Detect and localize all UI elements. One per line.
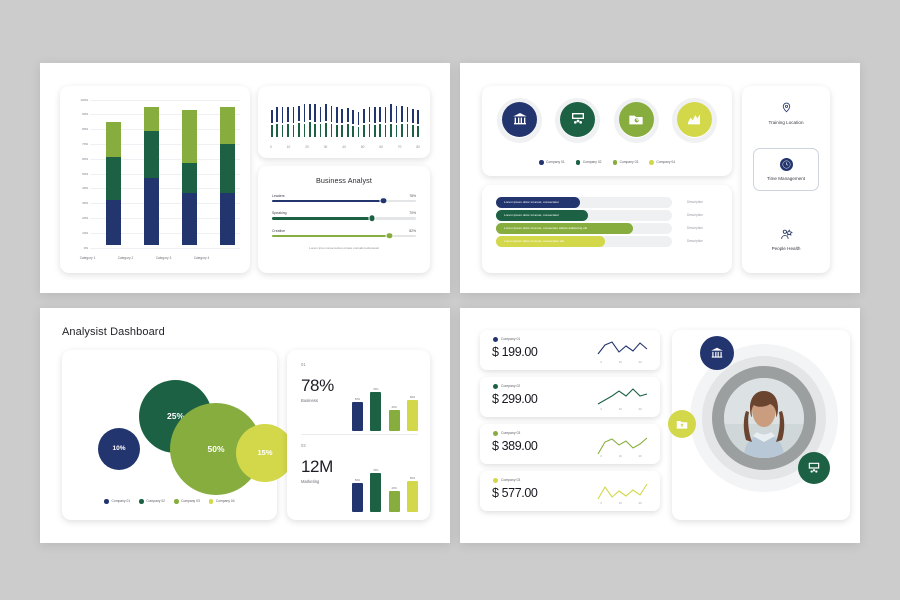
strip-bar-bottom	[357, 126, 361, 138]
bar-segment	[144, 131, 159, 178]
price-card[interactable]: Company 02$ 299.0001020	[480, 377, 660, 417]
bank-icon	[710, 346, 724, 360]
pin-presentation-icon[interactable]	[554, 100, 601, 150]
x-axis-tick: 10	[287, 145, 291, 149]
badge-bank[interactable]	[700, 336, 734, 370]
business-analyst-footer: Lorem ipsu conse lectus ornare consals l…	[258, 246, 430, 250]
legend-label: Company 01	[546, 160, 565, 164]
slide-3: Analysist Dashboard 25%10%50%15% Company…	[40, 308, 450, 543]
progress-description: Description	[672, 213, 718, 217]
pin-user-check-icon[interactable]	[613, 100, 660, 150]
progress-text: Lorem ipsum dolor sit amet, consectetur …	[504, 239, 564, 243]
skill-slider[interactable]: Leaders78%	[272, 194, 416, 203]
company-name: Company 01	[501, 337, 520, 341]
bubble: 10%	[98, 428, 140, 470]
legend-dot	[539, 160, 544, 165]
services-sidebar-card: Training Location Time Management People…	[742, 86, 830, 273]
strip-bar-top	[406, 106, 410, 123]
legend-item: Company 02	[576, 160, 602, 165]
progress-fill: Lorem ipsum dolor sit amet, consectetur	[496, 210, 588, 221]
slider-knob[interactable]	[368, 215, 376, 223]
chart-growth-icon	[677, 102, 712, 137]
progress-row: Lorem ipsum dolor sit amet, consectetur …	[496, 235, 718, 248]
sidebar-label: Time Management	[754, 176, 818, 181]
price-card-header: Company 01	[493, 337, 520, 342]
strip-bar-bottom	[389, 123, 393, 137]
slider-fill	[272, 200, 384, 203]
strip-bar	[319, 106, 323, 138]
mini-bar-label: 70%	[373, 469, 378, 472]
y-axis-tick: 60%	[66, 157, 88, 161]
strip-bar	[384, 106, 388, 138]
sidebar-label: Training Location	[742, 120, 830, 125]
strip-bar	[313, 103, 317, 138]
mini-bar-fill	[352, 402, 363, 431]
company-name: Company 02	[501, 384, 520, 388]
x-axis-tick: 0	[270, 145, 272, 149]
slider-fill	[272, 235, 390, 238]
legend-item: Company 01	[104, 499, 130, 504]
price-card-header: Company 03	[493, 431, 520, 436]
y-axis-tick: 40%	[66, 186, 88, 190]
bar-segment	[220, 107, 235, 144]
strip-bar-top	[362, 108, 366, 124]
strip-bar	[362, 108, 366, 137]
strip-bar-top	[384, 106, 388, 125]
progress-track: Lorem ipsum dolor sit amet, consectetu a…	[496, 223, 672, 234]
mini-bar-label: 50%	[355, 479, 360, 482]
bar-segment	[144, 107, 159, 131]
stat-number: 01	[301, 362, 418, 367]
price-amount: $ 299.00	[492, 392, 537, 406]
strip-bar	[292, 106, 296, 138]
business-analyst-card: Business Analyst Leaders78%Speaking70%Cr…	[258, 166, 430, 273]
strip-bar-top	[368, 106, 372, 123]
x-axis-tick: 30	[324, 145, 328, 149]
mini-bar: 40%	[389, 491, 400, 512]
strip-bar-bottom	[324, 122, 328, 138]
legend-label: Company 03	[181, 499, 200, 503]
slide-1: 100%90%80%70%60%50%40%30%20%10%0% Catego…	[40, 63, 450, 293]
strip-bar	[286, 106, 290, 137]
axis-tick: 0	[600, 361, 601, 364]
axis-tick: 0	[600, 455, 601, 458]
strip-bar-bottom	[335, 124, 339, 138]
strip-bar	[281, 106, 285, 138]
company-name: Company 03	[501, 478, 520, 482]
price-card-header: Company 03	[493, 478, 520, 483]
legend-item: Company 04	[649, 160, 675, 165]
stat-number: 02	[301, 443, 418, 448]
price-card[interactable]: Company 01$ 199.0001020	[480, 330, 660, 370]
strip-bar-bottom	[286, 123, 290, 138]
mini-bar-fill	[407, 481, 418, 512]
slider-track[interactable]	[272, 200, 416, 203]
progress-text: Lorem ipsum dolor sit amet, consectetu a…	[504, 226, 587, 230]
x-axis-tick: 20	[305, 145, 309, 149]
stat-block-marketing: 0212MMarketing50%70%40%50%	[301, 443, 418, 518]
price-amount: $ 577.00	[492, 486, 537, 500]
progress-text: Lorem ipsum dolor sit amet, consectetur	[504, 213, 559, 217]
mini-bar: 70%	[370, 392, 381, 431]
progress-text: Lorem ipsum dolor sit amet, consectetur	[504, 200, 559, 204]
progress-fill: Lorem ipsum dolor sit amet, consectetur …	[496, 236, 605, 247]
strip-bar-bottom	[395, 124, 399, 138]
slide-2: Company 01Company 02Company 03Company 04…	[460, 63, 860, 293]
strip-bar-top	[308, 103, 312, 121]
legend-dot	[209, 499, 214, 504]
y-axis-tick: 90%	[66, 112, 88, 116]
progress-description: Description	[672, 200, 718, 204]
progress-track: Lorem ipsum dolor sit amet, consectetur	[496, 197, 672, 208]
strip-bar	[378, 106, 382, 138]
bubble: 15%	[236, 424, 294, 482]
bar-segment	[106, 200, 121, 244]
mini-bar: 40%	[389, 410, 400, 431]
strip-bar-top	[340, 108, 344, 125]
mini-bar: 50%	[407, 481, 418, 512]
legend-item: Company 04	[209, 499, 235, 504]
mini-bar-fill	[370, 473, 381, 512]
strip-bar	[400, 105, 404, 138]
strip-bar-top	[400, 105, 404, 123]
strip-bar-bottom	[406, 123, 410, 137]
strip-bar-top	[303, 103, 307, 123]
bar-segment	[106, 157, 121, 200]
axis-tick: 20	[639, 408, 642, 411]
y-axis-tick: 50%	[66, 172, 88, 176]
x-axis-tick: 60	[379, 145, 383, 149]
progress-list-card: Lorem ipsum dolor sit amet, consecteturD…	[482, 185, 732, 273]
gridline	[90, 248, 240, 249]
legend-item: Company 03	[613, 160, 639, 165]
mini-bar-fill	[389, 491, 400, 512]
strip-bar-bottom	[416, 125, 420, 138]
price-card-header: Company 02	[493, 384, 520, 389]
progress-row: Lorem ipsum dolor sit amet, consectetu a…	[496, 222, 718, 235]
presentation-icon	[560, 102, 595, 137]
user-check-icon	[619, 102, 654, 137]
skill-value: 70%	[409, 211, 416, 215]
bar-segment	[220, 193, 235, 245]
strip-bar-bottom	[373, 124, 377, 138]
strip-bar-top	[270, 109, 274, 125]
strip-bar-bottom	[411, 124, 415, 137]
sparkline-chart	[592, 337, 650, 363]
strip-bar-top	[416, 109, 420, 125]
sidebar-item-time-management[interactable]: Time Management	[753, 148, 819, 191]
skill-label: Leaders	[272, 194, 285, 198]
axis-tick: 20	[639, 455, 642, 458]
sparkline-chart	[592, 384, 650, 410]
slider-track[interactable]	[272, 217, 416, 220]
sidebar-item-people-health[interactable]: People Health	[742, 228, 830, 251]
strip-bar-top	[411, 108, 415, 125]
mini-bar: 70%	[370, 473, 381, 512]
strip-bar	[411, 108, 415, 138]
strip-bar	[330, 105, 334, 138]
y-axis-tick: 70%	[66, 142, 88, 146]
divider	[301, 434, 418, 435]
pin-bank-icon[interactable]	[496, 100, 543, 150]
presentation-icon	[807, 461, 821, 475]
progress-track: Lorem ipsum dolor sit amet, consectetur …	[496, 236, 672, 247]
strip-bar-top	[319, 106, 323, 123]
strip-bar	[351, 109, 355, 137]
mini-bar-label: 70%	[373, 388, 378, 391]
strip-bar	[395, 105, 399, 138]
business-analyst-title: Business Analyst	[258, 176, 430, 185]
company-legend: Company 01Company 02Company 03Company 04	[72, 499, 267, 504]
strip-bar-top	[373, 106, 377, 124]
mini-bar-label: 40%	[392, 406, 397, 409]
progress-fill: Lorem ipsum dolor sit amet, consectetu a…	[496, 223, 633, 234]
mini-bar-fill	[407, 400, 418, 431]
y-axis-tick: 30%	[66, 201, 88, 205]
location-pin-icon	[742, 102, 830, 115]
axis-tick: 10	[619, 455, 622, 458]
slide-deck: 100%90%80%70%60%50%40%30%20%10%0% Catego…	[0, 0, 900, 600]
bar-segment	[106, 122, 121, 158]
stats-card: 0178%Business50%70%40%50% 0212MMarketing…	[287, 350, 430, 520]
profile-rings-card	[672, 330, 850, 520]
company-legend: Company 01Company 02Company 03Company 04	[496, 160, 718, 165]
stacked-bars-plot	[92, 96, 238, 245]
mini-bar: 50%	[352, 483, 363, 512]
y-axis-tick: 10%	[66, 231, 88, 235]
legend-label: Company 03	[620, 160, 639, 164]
strip-bar	[373, 106, 377, 138]
x-axis-category: Category 4	[179, 256, 225, 260]
company-dot	[493, 384, 498, 389]
axis-tick: 20	[639, 502, 642, 505]
legend-label: Company 04	[656, 160, 675, 164]
bubble-plot: 25%10%50%15%	[84, 366, 259, 481]
strip-bar-bottom	[362, 124, 366, 137]
sparkline-axis: 01020	[592, 408, 650, 411]
legend-item: Company 02	[139, 499, 165, 504]
price-card[interactable]: Company 03$ 389.0001020	[480, 424, 660, 464]
legend-label: Company 02	[146, 499, 165, 503]
skill-value: 78%	[409, 194, 416, 198]
strip-bar-bottom	[368, 123, 372, 137]
strip-bar-bottom	[351, 125, 355, 138]
strip-bar-top	[357, 111, 361, 126]
strip-bar-top	[324, 103, 328, 122]
strip-bar-top	[281, 106, 285, 124]
legend-label: Company 04	[216, 499, 235, 503]
strip-bar-top	[346, 107, 350, 123]
skill-value: 82%	[409, 229, 416, 233]
company-dot	[493, 337, 498, 342]
legend-dot	[104, 499, 109, 504]
legend-item: Company 03	[174, 499, 200, 504]
stat-block-business: 0178%Business50%70%40%50%	[301, 362, 418, 437]
pin-row	[496, 100, 718, 147]
axis-tick: 10	[619, 361, 622, 364]
mini-bar: 50%	[407, 400, 418, 431]
slider-track[interactable]	[272, 235, 416, 238]
strip-bar	[335, 106, 339, 137]
slider-knob[interactable]	[386, 232, 394, 240]
strip-bar	[340, 108, 344, 138]
pins-card: Company 01Company 02Company 03Company 04	[482, 86, 732, 176]
axis-tick: 0	[600, 408, 601, 411]
company-dot	[493, 478, 498, 483]
mini-bar-fill	[389, 410, 400, 431]
mini-bar-fill	[352, 483, 363, 512]
progress-row: Lorem ipsum dolor sit amet, consecteturD…	[496, 209, 718, 222]
stacked-bar	[182, 110, 197, 245]
strip-bar-bottom	[292, 124, 296, 137]
sparkline-axis: 01020	[592, 455, 650, 458]
legend-dot	[576, 160, 581, 165]
x-axis-tick: 80	[416, 145, 420, 149]
price-card[interactable]: Company 03$ 577.0001020	[480, 471, 660, 511]
skill-slider[interactable]: Speaking70%	[272, 211, 416, 220]
skill-label: Speaking	[272, 211, 287, 215]
progress-list: Lorem ipsum dolor sit amet, consecteturD…	[482, 185, 732, 248]
strip-bar-top	[297, 105, 301, 122]
mini-bar-label: 50%	[410, 477, 415, 480]
strip-bar-bottom	[270, 124, 274, 137]
strip-bar-top	[292, 106, 296, 125]
strip-bars	[270, 96, 420, 138]
strip-bar	[406, 106, 410, 138]
sparkline-chart	[592, 431, 650, 457]
strip-bar-top	[378, 106, 382, 123]
strip-bar	[297, 105, 301, 138]
strip-bar-top	[286, 106, 290, 122]
strip-bar-bottom	[275, 123, 279, 137]
strip-bar-bottom	[319, 123, 323, 137]
strip-bar-bottom	[297, 122, 301, 138]
strip-bar-bottom	[313, 123, 317, 138]
strip-bar-top	[395, 105, 399, 124]
company-name: Company 03	[501, 431, 520, 435]
badge-presentation[interactable]	[798, 452, 830, 484]
strip-bar	[270, 109, 274, 138]
strip-bar-bottom	[340, 124, 344, 137]
strip-bar-bottom	[378, 123, 382, 138]
sparkline-axis: 01020	[592, 361, 650, 364]
strip-bar-top	[335, 106, 339, 123]
x-axis-tick: 70	[398, 145, 402, 149]
legend-label: Company 01	[112, 499, 131, 503]
bar-segment	[182, 193, 197, 245]
user-upload-icon	[675, 417, 689, 431]
strip-bar-top	[351, 109, 355, 125]
strip-bar	[303, 103, 307, 138]
progress-description: Description	[672, 226, 718, 230]
stacked-bar	[144, 107, 159, 245]
skill-slider-list: Leaders78%Speaking70%Creative82%	[272, 194, 416, 238]
strip-bar-bottom	[303, 123, 307, 137]
strip-bar	[357, 111, 361, 138]
mini-bar-chart: 50%70%40%50%	[352, 460, 418, 512]
company-dot	[493, 431, 498, 436]
axis-tick: 10	[619, 408, 622, 411]
legend-dot	[613, 160, 618, 165]
skill-label: Creative	[272, 229, 285, 233]
y-axis-tick: 100%	[66, 98, 88, 102]
legend-dot	[174, 499, 179, 504]
stacked-chart-axes: 100%90%80%70%60%50%40%30%20%10%0% Catego…	[66, 96, 242, 263]
strip-bar-bottom	[308, 121, 312, 137]
strip-bar	[275, 106, 279, 137]
strip-bar-bottom	[384, 124, 388, 137]
strip-bar	[368, 106, 372, 138]
clock-globe-icon	[780, 158, 793, 171]
progress-fill: Lorem ipsum dolor sit amet, consectetur	[496, 197, 580, 208]
progress-description: Description	[672, 239, 718, 243]
mini-bar-label: 50%	[355, 398, 360, 401]
bar-segment	[220, 144, 235, 193]
strip-bar	[324, 103, 328, 138]
y-axis-tick: 80%	[66, 127, 88, 131]
axis-tick: 10	[619, 502, 622, 505]
price-amount: $ 389.00	[492, 439, 537, 453]
axis-tick: 20	[639, 361, 642, 364]
strip-bar	[346, 107, 350, 138]
stacked-bar	[106, 122, 121, 245]
strip-bar-bottom	[346, 123, 350, 137]
mini-bar-label: 40%	[392, 487, 397, 490]
strip-bar-top	[275, 106, 279, 123]
bar-segment	[144, 178, 159, 245]
strip-bar	[308, 103, 312, 137]
people-health-icon	[742, 228, 830, 241]
y-axis-tick: 20%	[66, 216, 88, 220]
sidebar-item-training-location[interactable]: Training Location	[742, 102, 830, 125]
mini-bar-fill	[370, 392, 381, 431]
bubble-chart-card: 25%10%50%15% Company 01Company 02Company…	[62, 350, 277, 520]
progress-track: Lorem ipsum dolor sit amet, consectetur	[496, 210, 672, 221]
avatar	[724, 378, 804, 458]
strip-bar-top	[330, 105, 334, 123]
skill-slider[interactable]: Creative82%	[272, 229, 416, 238]
x-axis-tick: 40	[342, 145, 346, 149]
bar-segment	[182, 163, 197, 193]
sparkline-axis: 01020	[592, 502, 650, 505]
axis-tick: 0	[600, 502, 601, 505]
strip-x-axis: 01020304050607080	[270, 145, 420, 149]
pin-chart-growth-icon[interactable]	[671, 100, 718, 150]
progress-row: Lorem ipsum dolor sit amet, consecteturD…	[496, 196, 718, 209]
strip-bar	[389, 103, 393, 137]
price-amount: $ 199.00	[492, 345, 537, 359]
mini-bar-chart: 50%70%40%50%	[352, 379, 418, 431]
stacked-bar-chart-card: 100%90%80%70%60%50%40%30%20%10%0% Catego…	[60, 86, 250, 273]
stacked-bar	[220, 107, 235, 245]
strip-bar	[416, 109, 420, 138]
bar-segment	[182, 110, 197, 163]
legend-dot	[139, 499, 144, 504]
mini-bar-label: 50%	[410, 396, 415, 399]
sparkline-chart	[592, 478, 650, 504]
x-axis-tick: 50	[361, 145, 365, 149]
strip-bar-top	[313, 103, 317, 123]
mini-bar: 50%	[352, 402, 363, 431]
slide-4: Company 01$ 199.0001020Company 02$ 299.0…	[460, 308, 860, 543]
slider-knob[interactable]	[380, 197, 388, 205]
sidebar-label: People Health	[742, 246, 830, 251]
y-axis-tick: 0%	[66, 246, 88, 250]
page-title: Analysist Dashboard	[62, 326, 165, 338]
legend-label: Company 02	[583, 160, 602, 164]
legend-item: Company 01	[539, 160, 565, 165]
badge-user-upload[interactable]	[668, 410, 696, 438]
